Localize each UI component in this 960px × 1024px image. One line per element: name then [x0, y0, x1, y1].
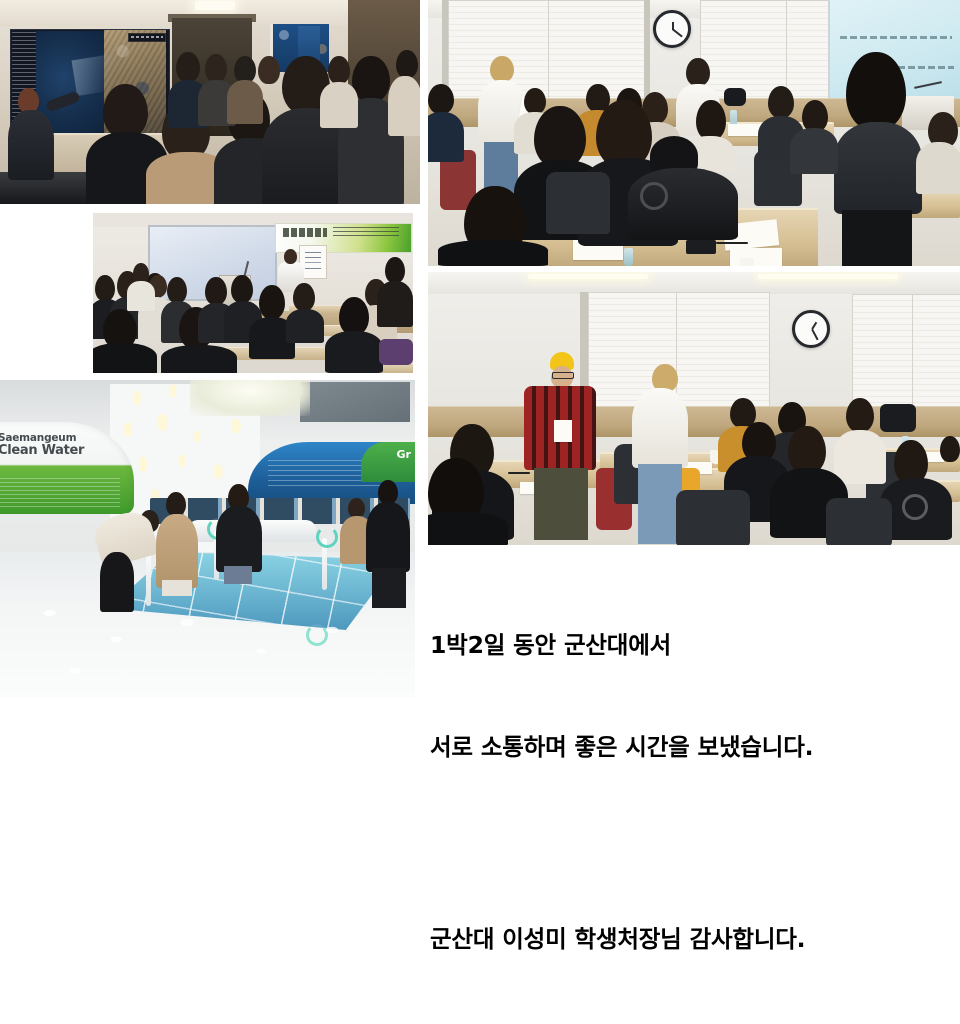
classroom-group-discussion-photo [428, 0, 960, 266]
student-body [438, 240, 548, 266]
student-body [127, 281, 155, 311]
clock-minute-hand [672, 29, 682, 38]
attendee-head [328, 56, 350, 84]
caption-line-3: 군산대 이성미 학생처장님 감사합니다. [430, 922, 950, 956]
student-head [524, 88, 546, 114]
exhibition-map-briefing-photo [0, 0, 420, 204]
eyeglasses [552, 372, 574, 379]
attendee-head [352, 56, 390, 102]
jacket-emblem [902, 494, 928, 520]
paper-cup [740, 258, 754, 266]
wall-clock [792, 310, 830, 348]
worksheet-paper [728, 124, 762, 136]
clean-water-signage-label: Saemangeum Clean Water [0, 432, 102, 459]
student-head [385, 257, 405, 283]
visitor-lower-body [100, 552, 134, 612]
slide-caption: 1박2일 동안 군산대에서 서로 소통하며 좋은 시간을 보냈습니다. 군산대 … [430, 560, 950, 1024]
visitor-head [378, 480, 398, 504]
clock-minute-hand [811, 329, 818, 341]
right-green-pod: Gr [361, 442, 415, 482]
student-head [167, 277, 187, 303]
attendee-head [205, 54, 227, 82]
attendee-body [320, 82, 358, 128]
laptop-bag [724, 88, 746, 106]
attendee-head [103, 84, 148, 138]
lecture-room-presentation-photo [93, 213, 413, 373]
classroom-standing-presentation-photo [428, 272, 960, 545]
student-head [940, 436, 960, 462]
wall-projection-glow [190, 380, 310, 416]
student-body [161, 345, 237, 373]
classroom-chair[interactable] [546, 172, 610, 234]
visitor-legs [372, 568, 406, 608]
guide-body [8, 110, 54, 180]
student-head [846, 52, 906, 130]
visitor-body [156, 514, 198, 588]
ceiling-light [528, 274, 648, 279]
student-head [205, 277, 227, 305]
student-head [768, 86, 794, 118]
visitor-head [348, 498, 365, 518]
jacket-emblem [640, 182, 668, 210]
student-head [231, 275, 253, 303]
caption-line-2: 서로 소통하며 좋은 시간을 보냈습니다. [430, 730, 950, 764]
student-body [916, 142, 960, 194]
water-bottle [624, 248, 633, 266]
exhibit-ring-marker [306, 624, 328, 646]
slide-text-line [840, 36, 952, 39]
student-head [293, 283, 315, 311]
student-head [95, 275, 115, 301]
signage-line-2: Clean Water [0, 444, 102, 459]
student-head [686, 58, 710, 86]
student-head [428, 84, 454, 114]
banner-logo-text [283, 228, 327, 237]
student-trousers [534, 468, 588, 540]
visitor-head [166, 492, 186, 516]
attendee-body [388, 76, 420, 136]
marker-pen [508, 472, 530, 474]
student-trousers [842, 210, 912, 266]
smartphone[interactable] [686, 240, 716, 254]
caption-spacer [430, 832, 950, 854]
banner-detail-text [333, 227, 399, 239]
student-body [834, 122, 922, 214]
visitor-legs [224, 566, 252, 584]
exhibit-ring-marker[interactable] [316, 526, 338, 548]
window-blind [912, 294, 960, 416]
attendee-head [396, 50, 418, 78]
student-body [377, 281, 413, 327]
map-title-label [128, 33, 166, 42]
student-body [428, 112, 464, 162]
student-body [632, 388, 688, 468]
ceiling-projection-dark [300, 382, 410, 422]
visitor-body [366, 502, 410, 572]
student-head [490, 56, 514, 82]
student-head [788, 426, 826, 474]
student-head [696, 100, 726, 140]
visitor-body [216, 506, 262, 572]
wall-clock [653, 10, 691, 48]
student-head [846, 398, 874, 432]
ceiling-light [195, 1, 235, 10]
student-body [428, 512, 508, 545]
photo-collage: Saemangeum Clean Water Gr [0, 0, 960, 720]
attendee-head [258, 56, 280, 84]
classroom-chair[interactable] [826, 498, 892, 545]
student-body [286, 309, 324, 343]
student-body [790, 128, 838, 174]
student-head [339, 297, 369, 335]
saemangeum-exhibition-hall-photo: Saemangeum Clean Water Gr [0, 380, 415, 697]
marker-pen [716, 242, 748, 244]
attendee-head [176, 52, 200, 82]
name-badge [554, 420, 572, 442]
caption-line-1: 1박2일 동안 군산대에서 [430, 628, 950, 662]
attendee-head [234, 56, 256, 83]
backpack [880, 404, 916, 432]
attendee-body [227, 80, 263, 124]
visitor-legs [162, 580, 192, 596]
classroom-chair[interactable] [676, 490, 750, 545]
presenter-head [284, 249, 297, 264]
backpack [379, 339, 413, 365]
student-body [325, 331, 383, 373]
right-pod-label: Gr [397, 448, 411, 461]
student-body [93, 343, 157, 373]
ceiling-light [758, 274, 898, 279]
student-head [133, 263, 149, 283]
student-body [834, 430, 886, 484]
window-blind [676, 292, 770, 420]
student-head [534, 106, 586, 168]
student-head [259, 285, 285, 319]
green-panel-body-text [0, 478, 120, 508]
worksheet-paper [730, 248, 782, 266]
